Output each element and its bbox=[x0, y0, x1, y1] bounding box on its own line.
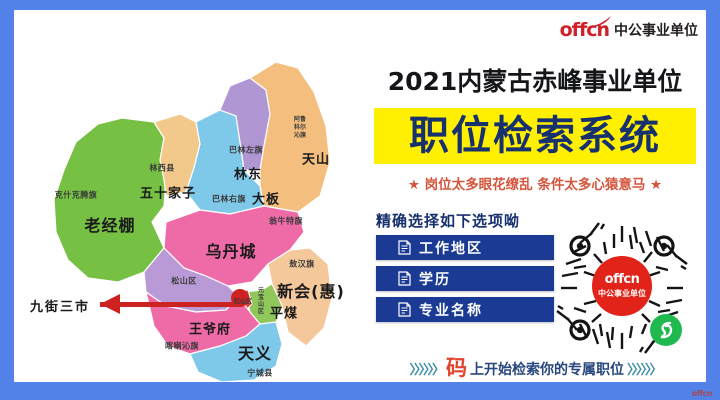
footer-watermark: offcn bbox=[692, 389, 712, 398]
map-city-tianyi: 天义 bbox=[238, 340, 272, 364]
map-city-laojingpeng: 老经棚 bbox=[84, 212, 135, 236]
option-button-label: 学历 bbox=[419, 269, 451, 289]
options-subtitle: 精确选择如下选项呦 bbox=[376, 210, 520, 231]
map-label-hongshan: 红山区 bbox=[234, 297, 252, 306]
map-region[interactable]: 克什克腾旗 老经棚 林西县 五十家子 巴林左旗 林东 阿鲁科尔沁旗 天山 巴林右… bbox=[14, 10, 364, 382]
map-label-yuanbaoshan: 元宝山区 bbox=[257, 287, 265, 315]
option-button-label: 专业名称 bbox=[419, 300, 483, 320]
map-city-daban: 大板 bbox=[252, 189, 280, 208]
map-label-songshan: 松山区 bbox=[171, 276, 197, 287]
poster-inner: 克什克腾旗 老经棚 林西县 五十家子 巴林左旗 林东 阿鲁科尔沁旗 天山 巴林右… bbox=[14, 10, 706, 382]
chevrons-right-icon: 〉〉〉〉〉〉 bbox=[627, 359, 661, 378]
cta-highlight: 码 bbox=[446, 358, 467, 379]
cta-row: 〉〉〉〉〉〉 码 上开始检索你的专属职位 〉〉〉〉〉〉 bbox=[364, 358, 706, 379]
document-icon bbox=[398, 302, 411, 317]
map-label-balinyou: 巴林右旗 bbox=[212, 194, 246, 205]
map-label-aohan: 敖汉旗 bbox=[289, 259, 315, 270]
option-button-label: 工作地区 bbox=[419, 238, 483, 258]
qr-code[interactable]: offcn 中公事业单位 bbox=[556, 222, 688, 354]
document-icon bbox=[398, 240, 411, 255]
map-city-xinhui: 新会(惠) bbox=[277, 278, 345, 302]
map-label-keshiketeng: 克什克腾旗 bbox=[55, 190, 98, 201]
map-label-linxi: 林西县 bbox=[149, 163, 175, 174]
slogan-text: ★ 岗位太多眼花缭乱 条件太多心猿意马 ★ bbox=[364, 173, 706, 193]
option-button-major[interactable]: 专业名称 bbox=[376, 297, 554, 322]
map-city-tianshan: 天山 bbox=[302, 149, 330, 168]
map-city-wudancheng: 乌丹城 bbox=[205, 238, 256, 262]
map-label-wengniute: 翁牛特旗 bbox=[269, 216, 303, 227]
map-label-ningcheng: 宁城县 bbox=[247, 368, 273, 379]
map-city-lindong: 林东 bbox=[234, 164, 262, 183]
page-title: 2021内蒙古赤峰事业单位 bbox=[364, 62, 706, 98]
map-arrow-label: 九街三市 bbox=[30, 296, 90, 315]
qr-center-logo bbox=[592, 256, 652, 316]
option-button-list: 工作地区 学历 专业名称 bbox=[376, 235, 554, 328]
poster-root: 克什克腾旗 老经棚 林西县 五十家子 巴林左旗 林东 阿鲁科尔沁旗 天山 巴林右… bbox=[0, 0, 720, 400]
banner-title: 职位检索系统 bbox=[409, 116, 661, 156]
brand-logo: offcn 中公事业单位 bbox=[560, 20, 698, 40]
option-button-work-area[interactable]: 工作地区 bbox=[376, 235, 554, 260]
map-label-kalaqin: 喀喇沁旗 bbox=[165, 341, 199, 352]
brand-swoosh-icon bbox=[590, 16, 612, 27]
map-label-aluukeerqin: 阿鲁科尔沁旗 bbox=[294, 116, 306, 140]
right-panel: offcn 中公事业单位 2021内蒙古赤峰事业单位 职位检索系统 ★ 岗位太多… bbox=[364, 10, 706, 382]
qr-code-svg bbox=[556, 222, 688, 354]
map-label-balinzuo: 巴林左旗 bbox=[229, 145, 263, 156]
brand-cn-text: 中公事业单位 bbox=[614, 20, 698, 40]
map-city-wushijiazi: 五十家子 bbox=[140, 183, 196, 202]
banner-title-block: 职位检索系统 bbox=[374, 108, 696, 164]
option-button-education[interactable]: 学历 bbox=[376, 266, 554, 291]
chevrons-left-icon: 〉〉〉〉〉〉 bbox=[409, 359, 443, 378]
cta-text: 上开始检索你的专属职位 bbox=[470, 359, 624, 379]
brand-offcn-text: offcn bbox=[560, 21, 609, 40]
map-city-pingmei: 平煤 bbox=[270, 303, 298, 322]
document-icon bbox=[398, 271, 411, 286]
map-city-wangyefu: 王爷府 bbox=[189, 319, 231, 338]
